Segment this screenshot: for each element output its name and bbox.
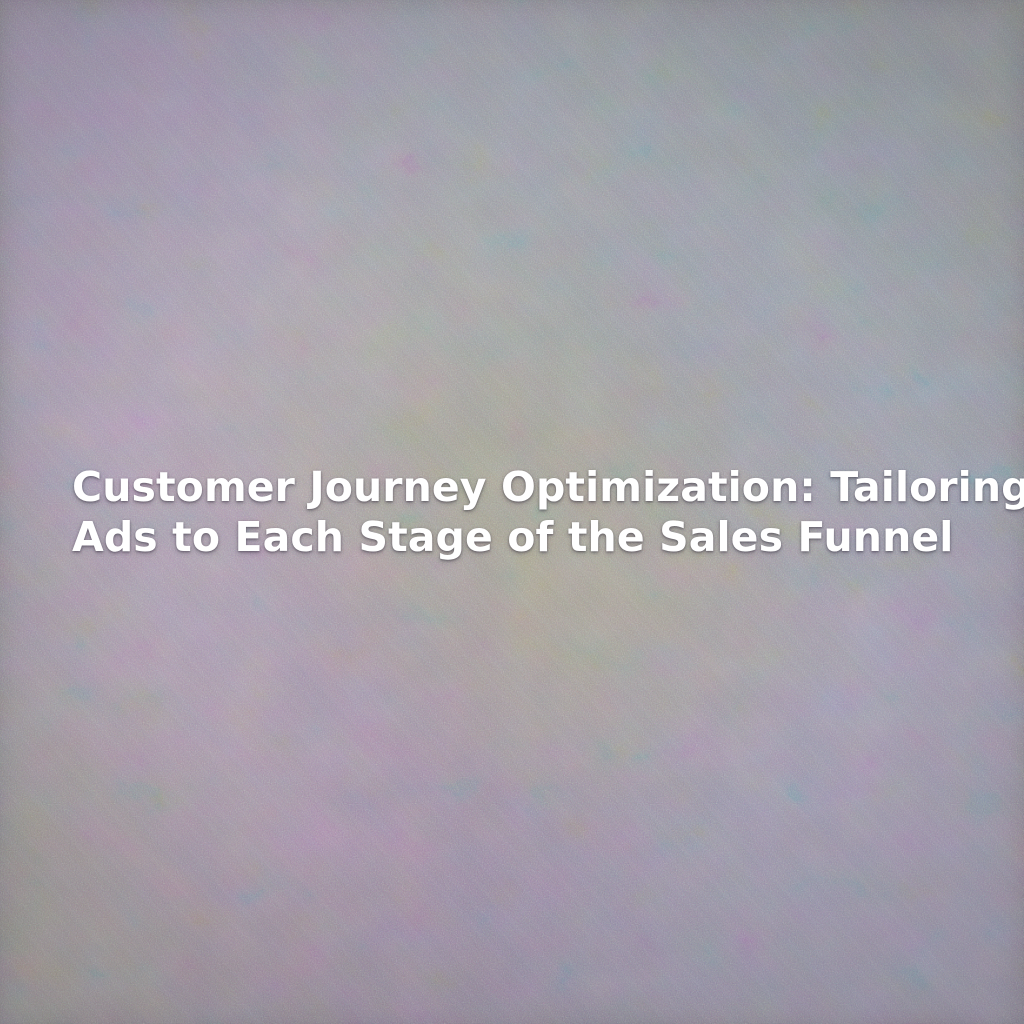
title-line-1: Customer Journey Optimization: Tailoring <box>72 462 952 512</box>
page-title: Customer Journey Optimization: Tailoring… <box>0 462 1024 562</box>
title-line-2: Ads to Each Stage of the Sales Funnel <box>72 512 952 562</box>
social-card: Customer Journey Optimization: Tailoring… <box>0 0 1024 1024</box>
